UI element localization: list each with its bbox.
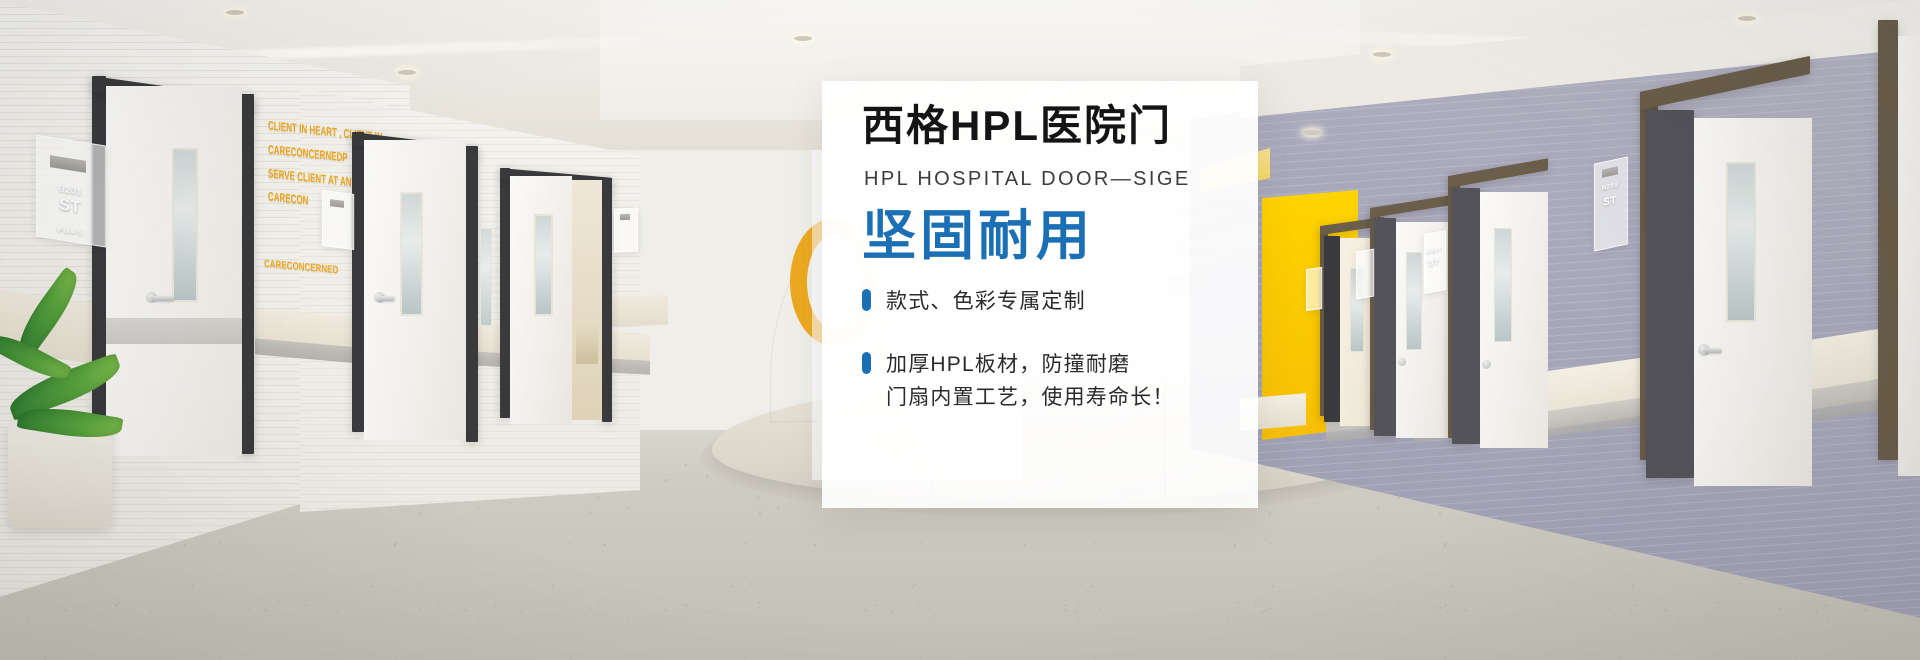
feature-item: 加厚HPL板材，防撞耐磨 门扇内置工艺，使用寿命长！: [862, 348, 1242, 414]
door-rose-r2: [1398, 358, 1406, 366]
door-frame-3-right: [602, 178, 612, 422]
door-leaf-r5: [1898, 36, 1920, 476]
downlight-2: [398, 70, 416, 75]
interior-bed: [576, 322, 598, 364]
door-frame-3-left: [500, 168, 510, 418]
hero-banner: B201 ST 护理单元 CLIENT IN HEART , CLIENT IN…: [0, 0, 1920, 660]
downlight-1: [226, 10, 244, 15]
door-vision-panel-1: [172, 148, 198, 302]
hero-title-cn: 西格HPL医院门: [862, 105, 1172, 147]
bullet-dot-icon: [862, 289, 871, 311]
feature-item-text: 款式、色彩专属定制: [886, 285, 1086, 318]
hero-headline-cn: 坚固耐用: [862, 209, 1094, 263]
open-door-interior: [572, 180, 602, 420]
door-frame-r2-reveal: [1374, 218, 1396, 436]
hero-feature-list: 款式、色彩专属定制 加厚HPL板材，防撞耐磨 门扇内置工艺，使用寿命长！: [862, 285, 1242, 444]
room-sign-2: [322, 190, 354, 250]
door-vision-panel-r3: [1494, 228, 1512, 342]
door-frame-2-right: [466, 146, 478, 442]
door-frame-r3-reveal: [1452, 188, 1480, 444]
door-frame-r4-reveal: [1646, 110, 1694, 478]
door-handle-r4: [1704, 348, 1722, 353]
door-frame-r5-left: [1878, 20, 1898, 460]
door-bumper-1: [106, 318, 242, 344]
feature-item-text: 加厚HPL板材，防撞耐磨: [886, 348, 1175, 381]
door-frame-2-left: [352, 132, 364, 432]
door-leaf-r3: [1480, 192, 1548, 448]
door-vision-panel-r4: [1726, 162, 1756, 322]
hero-text-card: 西格HPL医院门 HPL HOSPITAL DOOR—SIGE 坚固耐用 款式、…: [822, 81, 1258, 508]
door-vision-panel-r2: [1406, 252, 1422, 350]
feature-item-text-second-line: 门扇内置工艺，使用寿命长！: [886, 381, 1175, 414]
door-rose-r3: [1482, 360, 1491, 369]
room-sign-r2: [1356, 249, 1374, 300]
planter-pot: [8, 424, 112, 528]
door-vision-panel-3: [534, 214, 553, 316]
downlight-3: [794, 36, 812, 41]
downlight-7: [1738, 16, 1756, 21]
door-vision-panel-2: [400, 192, 423, 316]
room-sign-3-cap: [620, 214, 630, 221]
room-sign-r1: [1306, 267, 1322, 311]
downlight-6: [1373, 52, 1391, 57]
door-frame-r1-reveal: [1324, 236, 1340, 422]
hero-subtitle-en: HPL HOSPITAL DOOR—SIGE: [864, 169, 1191, 189]
bullet-dot-icon: [862, 352, 871, 374]
door-frame-1-left: [92, 76, 106, 448]
downlight-5: [1303, 130, 1321, 135]
door-frame-1-right: [240, 94, 254, 454]
door-handle-1: [152, 296, 174, 301]
sidelite-2: [480, 228, 492, 326]
feature-item: 款式、色彩专属定制: [862, 285, 1242, 318]
door-handle-2: [378, 296, 395, 301]
